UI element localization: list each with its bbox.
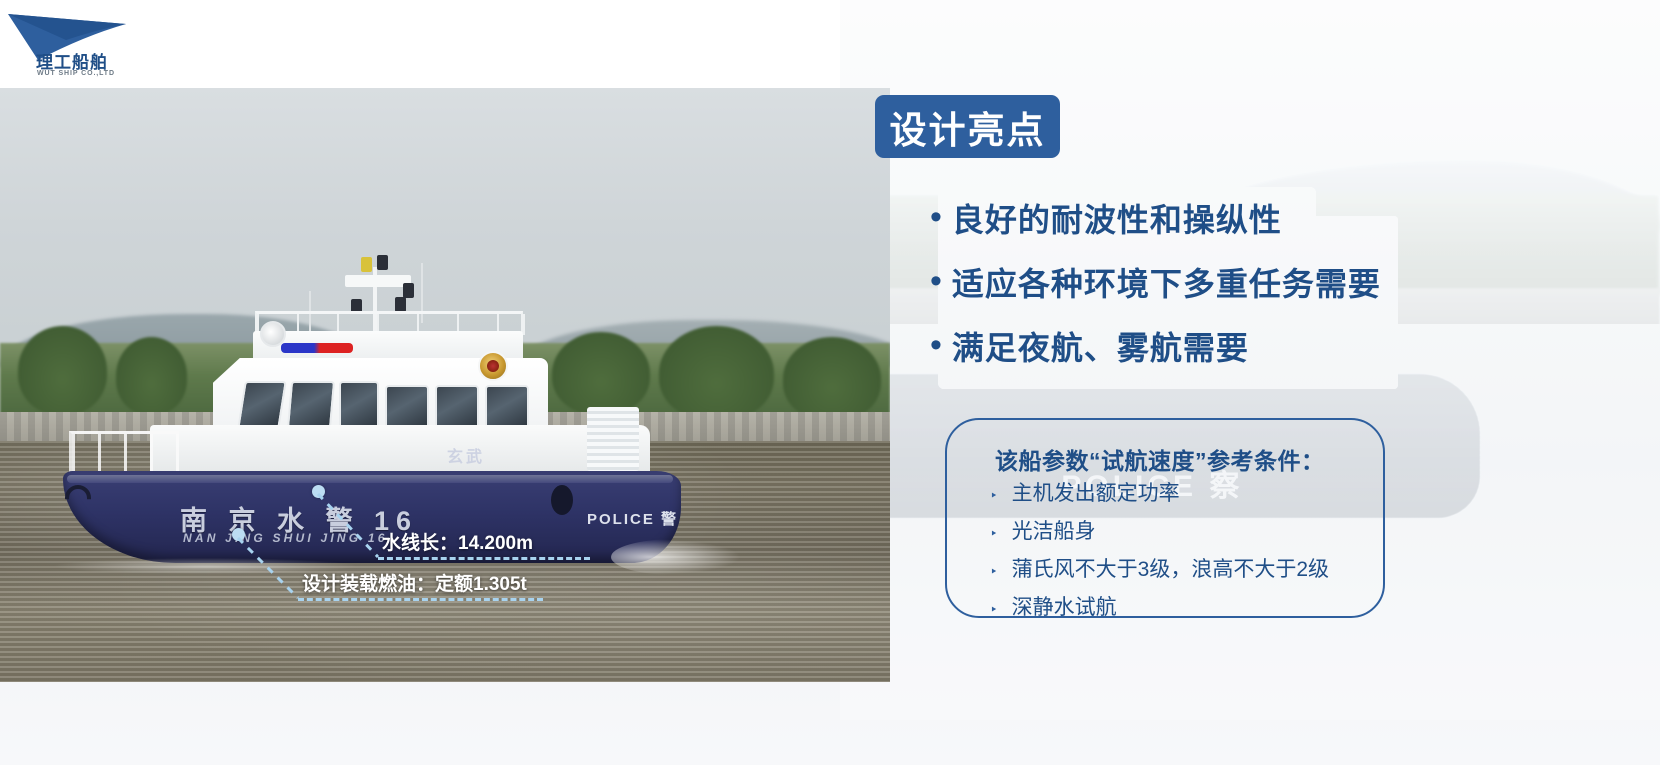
highlight-text: 良好的耐波性和操纵性 bbox=[952, 200, 1282, 240]
triangle-marker-icon: ‣ bbox=[990, 597, 998, 623]
section-title-text: 设计亮点 bbox=[890, 100, 1046, 154]
triangle-marker-icon: ‣ bbox=[990, 559, 998, 585]
highlight-text: 适应各种环境下多重任务需要 bbox=[952, 264, 1381, 304]
condition-item: ‣ 深静水试航 bbox=[990, 594, 1410, 623]
highlights-list: • 良好的耐波性和操纵性 • 适应各种环境下多重任务需要 • 满足夜航、雾航需要 bbox=[930, 200, 1570, 392]
company-logo: 理工船舶 WUT SHIP CO.,LTD bbox=[4, 6, 179, 82]
logo-company-name-en: WUT SHIP CO.,LTD bbox=[37, 70, 115, 77]
bullet-dot-icon: • bbox=[930, 262, 942, 300]
callout-label-design-fuel-load: 设计装载燃油：定额1.305t bbox=[302, 569, 527, 596]
highlight-item: • 满足夜航、雾航需要 bbox=[930, 328, 1570, 368]
reference-conditions-title: 该船参数“试航速度”参考条件： bbox=[995, 442, 1325, 476]
bullet-dot-icon: • bbox=[930, 326, 942, 364]
highlight-item: • 适应各种环境下多重任务需要 bbox=[930, 264, 1570, 304]
patrol-boat-photo: 玄武 南 京 水 警 16 NAN JING SHUI JING 16 POLI… bbox=[0, 88, 890, 682]
condition-item: ‣ 光洁船身 bbox=[990, 518, 1410, 547]
triangle-marker-icon: ‣ bbox=[990, 483, 998, 509]
highlight-text: 满足夜航、雾航需要 bbox=[952, 328, 1249, 368]
condition-text: 光洁船身 bbox=[1012, 518, 1096, 546]
condition-item: ‣ 主机发出额定功率 bbox=[990, 480, 1410, 509]
reference-conditions-list: ‣ 主机发出额定功率 ‣ 光洁船身 ‣ 蒲氏风不大于3级，浪高不大于2级 ‣ 深… bbox=[990, 480, 1410, 632]
condition-text: 深静水试航 bbox=[1012, 594, 1117, 622]
highlight-item: • 良好的耐波性和操纵性 bbox=[930, 200, 1570, 240]
header-band: 理工船舶 WUT SHIP CO.,LTD bbox=[0, 0, 840, 88]
triangle-marker-icon: ‣ bbox=[990, 521, 998, 547]
condition-item: ‣ 蒲氏风不大于3级，浪高不大于2级 bbox=[990, 556, 1410, 585]
slide-canvas: POLICE 察 理工船舶 WUT SHIP CO.,LTD bbox=[0, 0, 1660, 765]
callout-underline-2 bbox=[298, 598, 543, 601]
bullet-dot-icon: • bbox=[930, 198, 942, 236]
condition-text: 主机发出额定功率 bbox=[1012, 480, 1180, 508]
section-title-box: 设计亮点 bbox=[875, 95, 1060, 158]
condition-text: 蒲氏风不大于3级，浪高不大于2级 bbox=[1012, 556, 1329, 584]
